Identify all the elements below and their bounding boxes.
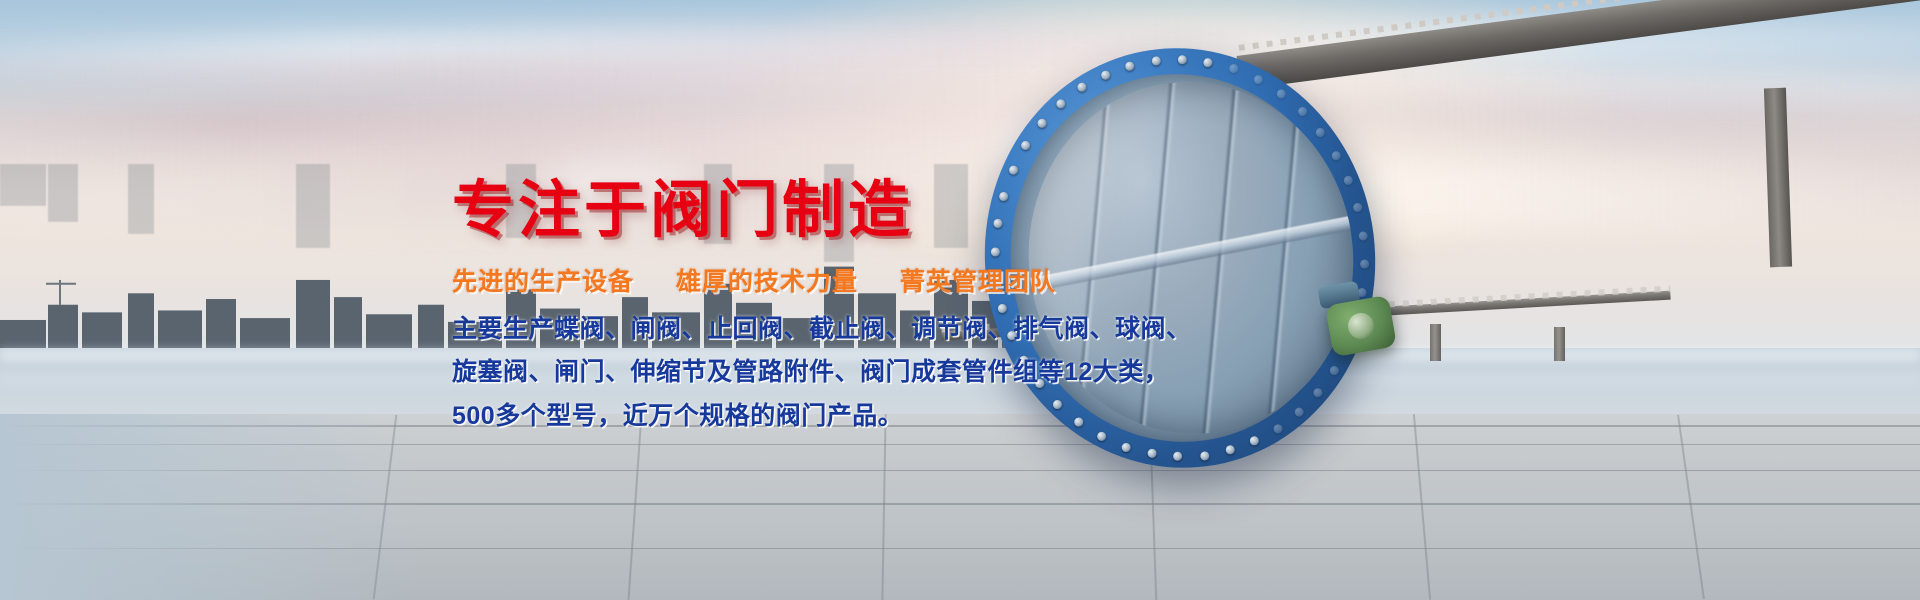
- flange-bolt: [1250, 436, 1260, 446]
- valve-actuator: [1325, 295, 1397, 357]
- flange-bolt: [1173, 452, 1183, 462]
- hero-banner: 专注于阀门制造 先进的生产设备 雄厚的技术力量 菁英管理团队 主要生产蝶阀、闸阀…: [0, 0, 1920, 600]
- flange-bolt: [1077, 83, 1087, 93]
- banner-description: 主要生产蝶阀、闸阀、止回阀、截止阀、调节阀、排气阀、球阀、 旋塞阀、闸门、伸缩节…: [452, 312, 1232, 435]
- flange-bolt: [1225, 445, 1235, 455]
- flange-bolt: [1359, 259, 1369, 269]
- flange-bolt: [1358, 231, 1368, 241]
- description-line-2: 500多个型号，近万个规格的阀门产品。: [452, 399, 1232, 435]
- flange-bolt: [1147, 449, 1157, 459]
- flange-bolt: [1276, 89, 1286, 99]
- flange-bolt: [1203, 57, 1213, 67]
- banner-copy: 专注于阀门制造 先进的生产设备 雄厚的技术力量 菁英管理团队 主要生产蝶阀、闸阀…: [452, 178, 1232, 442]
- flange-bolt: [1151, 55, 1161, 65]
- flange-bolt: [1343, 176, 1353, 186]
- flange-bolt: [1229, 64, 1239, 74]
- flange-bolt: [1100, 70, 1110, 80]
- description-line-0: 主要生产蝶阀、闸阀、止回阀、截止阀、调节阀、排气阀、球阀、: [452, 312, 1232, 348]
- flange-bolt: [1125, 61, 1135, 71]
- flange-bolt: [1199, 451, 1209, 461]
- flange-bolt: [1352, 203, 1362, 213]
- flange-bolt: [1294, 407, 1304, 417]
- subline-item-0: 先进的生产设备: [452, 268, 634, 296]
- flange-bolt: [1177, 54, 1187, 64]
- banner-subline: 先进的生产设备 雄厚的技术力量 菁英管理团队: [452, 262, 1232, 298]
- flange-bolt: [1329, 365, 1339, 375]
- flange-bolt: [1313, 388, 1323, 398]
- description-line-1: 旋塞阀、闸门、伸缩节及管路附件、阀门成套管件组等12大类，: [452, 355, 1232, 391]
- flange-bolt: [1316, 127, 1326, 137]
- banner-headline: 专注于阀门制造: [452, 178, 1232, 244]
- subline-item-2: 菁英管理团队: [900, 268, 1056, 296]
- flange-bolt: [1331, 151, 1341, 161]
- subline-item-1: 雄厚的技术力量: [676, 268, 858, 296]
- flange-bolt: [1253, 75, 1263, 85]
